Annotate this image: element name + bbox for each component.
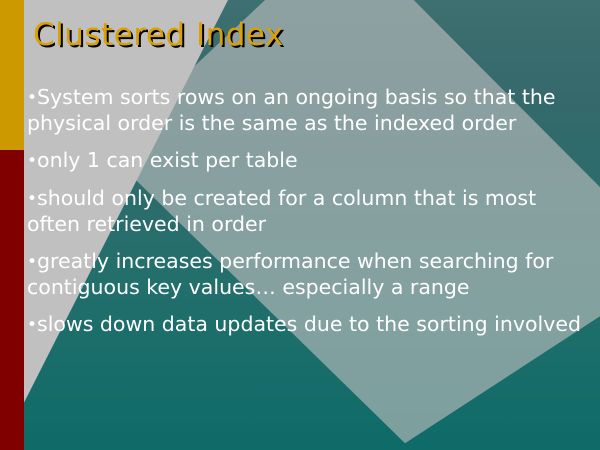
bullet-text: System sorts rows on an ongoing basis so… xyxy=(27,85,555,135)
bullet-marker-icon: • xyxy=(27,88,37,108)
bullet-text: only 1 can exist per table xyxy=(37,148,298,172)
left-accent-rail xyxy=(0,0,24,450)
bullet-item: •System sorts rows on an ongoing basis s… xyxy=(27,85,583,136)
slide-canvas: Clustered Index •System sorts rows on an… xyxy=(0,0,600,450)
rail-segment-maroon xyxy=(0,150,24,450)
rail-segment-gold xyxy=(0,0,24,150)
bullet-marker-icon: • xyxy=(27,252,37,272)
bullet-item: •slows down data updates due to the sort… xyxy=(27,312,583,338)
bullet-marker-icon: • xyxy=(27,151,37,171)
bullet-item: •only 1 can exist per table xyxy=(27,148,583,174)
slide-body: •System sorts rows on an ongoing basis s… xyxy=(27,85,583,350)
bullet-text: greatly increases performance when searc… xyxy=(27,249,553,299)
bullet-item: •greatly increases performance when sear… xyxy=(27,249,583,300)
bullet-text: should only be created for a column that… xyxy=(27,186,536,236)
bullet-marker-icon: • xyxy=(27,189,37,209)
slide-title: Clustered Index xyxy=(33,17,284,53)
bullet-item: •should only be created for a column tha… xyxy=(27,186,583,237)
bullet-text: slows down data updates due to the sorti… xyxy=(37,312,581,336)
bullet-marker-icon: • xyxy=(27,315,37,335)
